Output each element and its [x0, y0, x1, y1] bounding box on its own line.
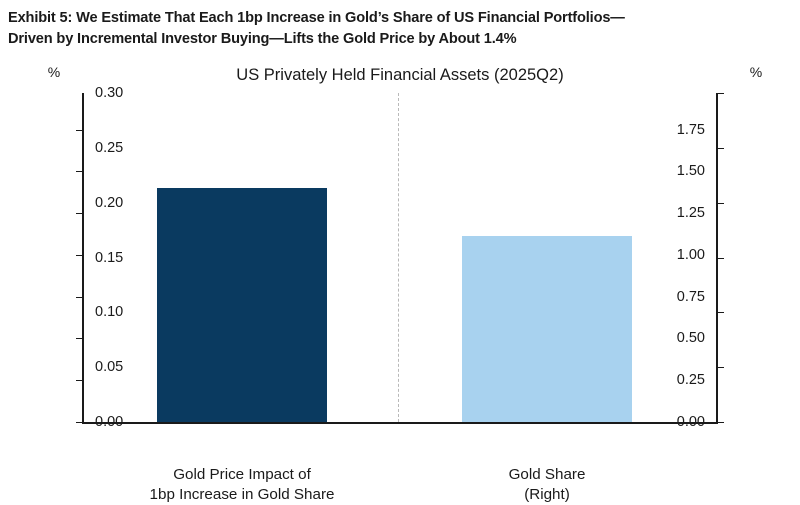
right-axis-tick-label: 0.00: [95, 415, 123, 430]
chart-figure: US Privately Held Financial Assets (2025…: [0, 58, 800, 478]
left-axis-tick: [76, 380, 83, 381]
chart-title: US Privately Held Financial Assets (2025…: [0, 66, 800, 85]
right-axis-tick-label: 0.30: [95, 86, 123, 101]
bottom-axis-spine: [82, 422, 718, 424]
right-axis-tick: [717, 367, 724, 368]
left-axis-unit-label: %: [32, 64, 76, 80]
left-axis-tick: [76, 255, 83, 256]
exhibit-title-line-1: Exhibit 5: We Estimate That Each 1bp Inc…: [8, 8, 792, 29]
left-axis-tick-label: 0.00: [677, 415, 705, 430]
right-axis-tick: [717, 148, 724, 149]
x-axis-label-line: Gold Price Impact of: [122, 465, 362, 485]
right-axis-tick-label: 0.20: [95, 195, 123, 210]
right-axis-tick-label: 0.15: [95, 250, 123, 265]
left-axis-tick: [76, 422, 83, 423]
exhibit-title: Exhibit 5: We Estimate That Each 1bp Inc…: [8, 8, 792, 49]
right-axis-tick-label: 0.10: [95, 305, 123, 320]
left-axis-tick: [76, 338, 83, 339]
right-axis-tick-label: 0.05: [95, 360, 123, 375]
plot-area: 0.000.250.500.751.001.251.501.75 0.000.0…: [83, 93, 717, 422]
right-axis-tick-label: 0.25: [95, 141, 123, 156]
left-axis-tick-label: 0.75: [677, 289, 705, 304]
right-axis-tick: [717, 422, 724, 423]
exhibit-title-line-2: Driven by Incremental Investor Buying—Li…: [8, 29, 792, 50]
right-axis-tick: [717, 203, 724, 204]
right-axis-tick: [717, 93, 724, 94]
left-axis-tick: [76, 213, 83, 214]
right-axis-unit-label: %: [734, 64, 778, 80]
x-axis-label-line: 1bp Increase in Gold Share: [122, 485, 362, 505]
bar-gold-share[interactable]: [462, 236, 632, 422]
bar-gold-price-impact[interactable]: [157, 188, 327, 422]
category-divider-line: [398, 93, 399, 422]
x-axis-label-line: Gold Share: [427, 465, 667, 485]
left-axis-tick: [76, 171, 83, 172]
left-axis-tick: [76, 297, 83, 298]
left-axis-tick-label: 1.50: [677, 164, 705, 179]
left-axis-tick-label: 0.25: [677, 373, 705, 388]
left-axis-tick-label: 0.50: [677, 331, 705, 346]
left-axis-tick-label: 1.25: [677, 206, 705, 221]
left-axis-tick-label: 1.75: [677, 122, 705, 137]
left-axis-tick: [76, 130, 83, 131]
right-axis-tick: [717, 258, 724, 259]
x-axis-label-line: (Right): [427, 485, 667, 505]
x-axis-label-gold-price-impact: Gold Price Impact of1bp Increase in Gold…: [122, 465, 362, 505]
right-axis-tick: [717, 312, 724, 313]
x-axis-label-gold-share: Gold Share(Right): [427, 465, 667, 505]
left-axis-spine: [82, 93, 84, 422]
left-axis-tick-label: 1.00: [677, 248, 705, 263]
